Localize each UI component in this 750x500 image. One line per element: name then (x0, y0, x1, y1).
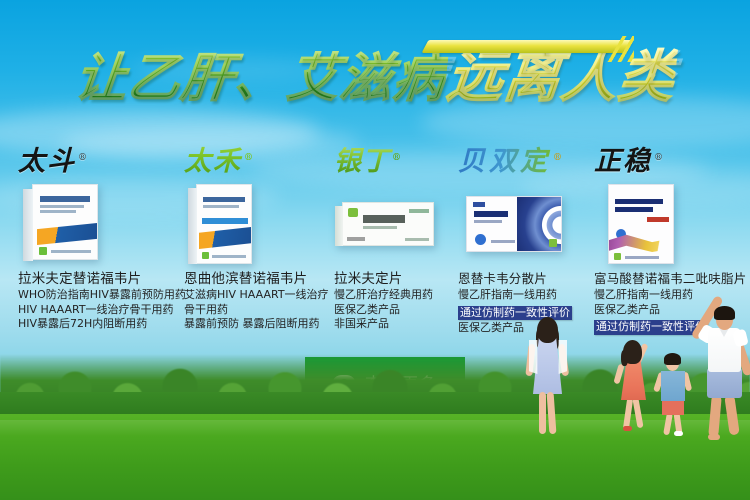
registered-mark-icon: ® (78, 153, 89, 163)
product-image-4 (594, 184, 750, 262)
product-brand-text-3: 贝双定 (458, 146, 551, 177)
product-brand-text-0: 太斗 (18, 146, 76, 177)
product-card-3[interactable]: 贝双定® 恩替卡韦分散片 慢乙肝指南一线用药 通过仿制药一致性评价 医保乙类产品 (450, 138, 586, 338)
product-image-2 (334, 184, 450, 262)
product-image-3 (458, 184, 586, 262)
product-image-0 (18, 184, 178, 262)
product-brand-text-4: 正稳 (594, 146, 652, 177)
product-name-4: 富马酸替诺福韦二吡呋脂片 (594, 270, 750, 288)
product-name-0: 拉米夫定替诺福韦片 (18, 270, 178, 288)
registered-mark-icon: ® (654, 153, 665, 163)
product-brand-2: 银丁® (334, 138, 450, 178)
product-name-1: 恩曲他滨替诺福韦片 (184, 270, 330, 288)
person-man (692, 296, 750, 442)
product-name-3: 恩替卡韦分散片 (458, 270, 586, 288)
registered-mark-icon: ® (553, 153, 566, 163)
family-illustration (0, 310, 750, 500)
product-card-1[interactable]: 太禾® 恩曲他滨替诺福韦片 艾滋病HIV HAAART一线治疗 骨干用药 暴露前… (178, 138, 330, 338)
product-card-0[interactable]: 太斗® 拉米夫定替诺福韦片 WHO防治指南HIV暴露前预防用药 HIV HAAA… (0, 138, 178, 338)
product-brand-text-1: 太禾 (184, 146, 242, 177)
promo-banner: 让乙肝、艾滋病远离人类 太斗® 拉米夫定替诺福韦片 WHO防治指南HIV暴露前预… (0, 0, 750, 500)
banner-headline: 让乙肝、艾滋病远离人类 (0, 42, 750, 114)
product-card-2[interactable]: 银丁® 拉米夫定片 慢乙肝治疗经典用药 医保乙类产品 非国采产品 (330, 138, 450, 338)
product-brand-3: 贝双定® (458, 138, 586, 178)
product-image-1 (184, 184, 330, 262)
product-brand-0: 太斗® (18, 138, 178, 178)
person-girl (614, 340, 658, 432)
person-boy (655, 352, 695, 436)
headline-speedline-decoration (600, 36, 634, 62)
product-list: 太斗® 拉米夫定替诺福韦片 WHO防治指南HIV暴露前预防用药 HIV HAAA… (0, 138, 750, 338)
product-name-2: 拉米夫定片 (334, 270, 450, 288)
product-feature-3-0: 慢乙肝指南一线用药 (458, 288, 586, 303)
product-feature-0-0: WHO防治指南HIV暴露前预防用药 (18, 288, 178, 303)
product-brand-4: 正稳® (594, 138, 750, 178)
product-brand-text-2: 银丁 (334, 146, 390, 177)
product-feature-2-0: 慢乙肝治疗经典用药 (334, 288, 450, 303)
product-feature-1-0: 艾滋病HIV HAAART一线治疗 (184, 288, 330, 303)
product-brand-1: 太禾® (184, 138, 330, 178)
registered-mark-icon: ® (392, 153, 402, 163)
registered-mark-icon: ® (244, 153, 255, 163)
headline-part-one: 让乙肝、艾滋病 (72, 43, 451, 115)
person-woman (520, 320, 574, 438)
